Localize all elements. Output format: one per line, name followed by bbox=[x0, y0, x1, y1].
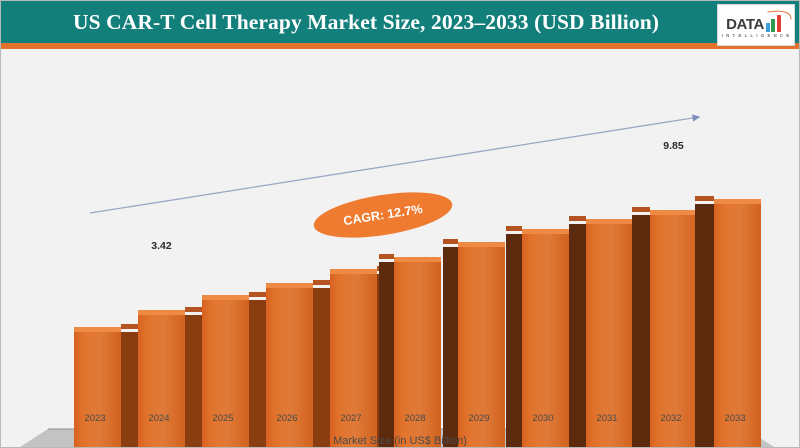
bar-value-label-2032: 9.85 bbox=[650, 140, 697, 152]
bar-2033[interactable] bbox=[714, 199, 761, 447]
bar-top-face bbox=[266, 283, 313, 288]
chart-frame: US CAR-T Cell Therapy Market Size, 2023–… bbox=[0, 0, 800, 448]
x-tick-2028: 2028 bbox=[380, 413, 450, 424]
brand-logo[interactable]: DATA I N T E L L I G E N C E bbox=[717, 4, 795, 46]
x-axis-tick-labels: 2023 2024 2025 2026 2027 2028 2029 2030 … bbox=[2, 413, 798, 429]
logo-swoosh-icon bbox=[767, 8, 791, 22]
bar-side-top-face bbox=[379, 254, 394, 259]
bar-side-top-face bbox=[121, 324, 138, 329]
x-tick-2026: 2026 bbox=[252, 413, 322, 424]
bar-top-face bbox=[522, 229, 569, 234]
x-tick-2030: 2030 bbox=[508, 413, 578, 424]
bar-top-face bbox=[202, 295, 249, 300]
logo-subtitle: I N T E L L I G E N C E bbox=[722, 33, 791, 38]
bar-front-face bbox=[714, 204, 761, 447]
bar-2032[interactable] bbox=[650, 210, 697, 447]
x-tick-2024: 2024 bbox=[124, 413, 194, 424]
bar-2023[interactable] bbox=[74, 327, 121, 447]
x-tick-2029: 2029 bbox=[444, 413, 514, 424]
bar-side-top-face bbox=[185, 307, 202, 312]
x-axis-title: Market Size (in US$ Billion) bbox=[2, 435, 798, 447]
page-title: US CAR-T Cell Therapy Market Size, 2023–… bbox=[21, 1, 711, 43]
x-tick-2027: 2027 bbox=[316, 413, 386, 424]
x-tick-2025: 2025 bbox=[188, 413, 258, 424]
bar-side-face bbox=[695, 204, 714, 447]
x-tick-2023: 2023 bbox=[60, 413, 130, 424]
bar-top-face bbox=[394, 257, 441, 262]
bar-side-top-face bbox=[632, 207, 650, 212]
plot-inner: 3.42 9.85 CAGR: 12.7% 2023 2024 2025 bbox=[2, 49, 798, 447]
bar-side-top-face bbox=[695, 196, 714, 201]
bar-side-top-face bbox=[443, 239, 458, 244]
plot-area: 3.42 9.85 CAGR: 12.7% 2023 2024 2025 bbox=[2, 49, 798, 447]
x-tick-2033: 2033 bbox=[700, 413, 770, 424]
logo-wordmark: DATA bbox=[726, 17, 764, 32]
bar-side-top-face bbox=[506, 226, 522, 231]
bar-side-top-face bbox=[313, 280, 330, 285]
bar-front-face bbox=[74, 332, 121, 447]
cagr-badge: CAGR: 12.7% bbox=[311, 184, 456, 245]
bar-side-top-face bbox=[249, 292, 266, 297]
bar-top-face bbox=[458, 242, 505, 247]
bar-value-label-2024: 3.42 bbox=[138, 240, 185, 252]
bar-top-face bbox=[586, 219, 633, 224]
cagr-label: CAGR: 12.7% bbox=[342, 202, 423, 228]
bar-top-face bbox=[74, 327, 121, 332]
bar-top-face bbox=[714, 199, 761, 204]
bar-top-face bbox=[138, 310, 185, 315]
bar-top-face bbox=[650, 210, 697, 215]
bar-top-face bbox=[330, 269, 377, 274]
bar-side-top-face bbox=[569, 216, 586, 221]
x-tick-2031: 2031 bbox=[572, 413, 642, 424]
x-tick-2032: 2032 bbox=[636, 413, 706, 424]
bar-side-face bbox=[121, 332, 138, 447]
